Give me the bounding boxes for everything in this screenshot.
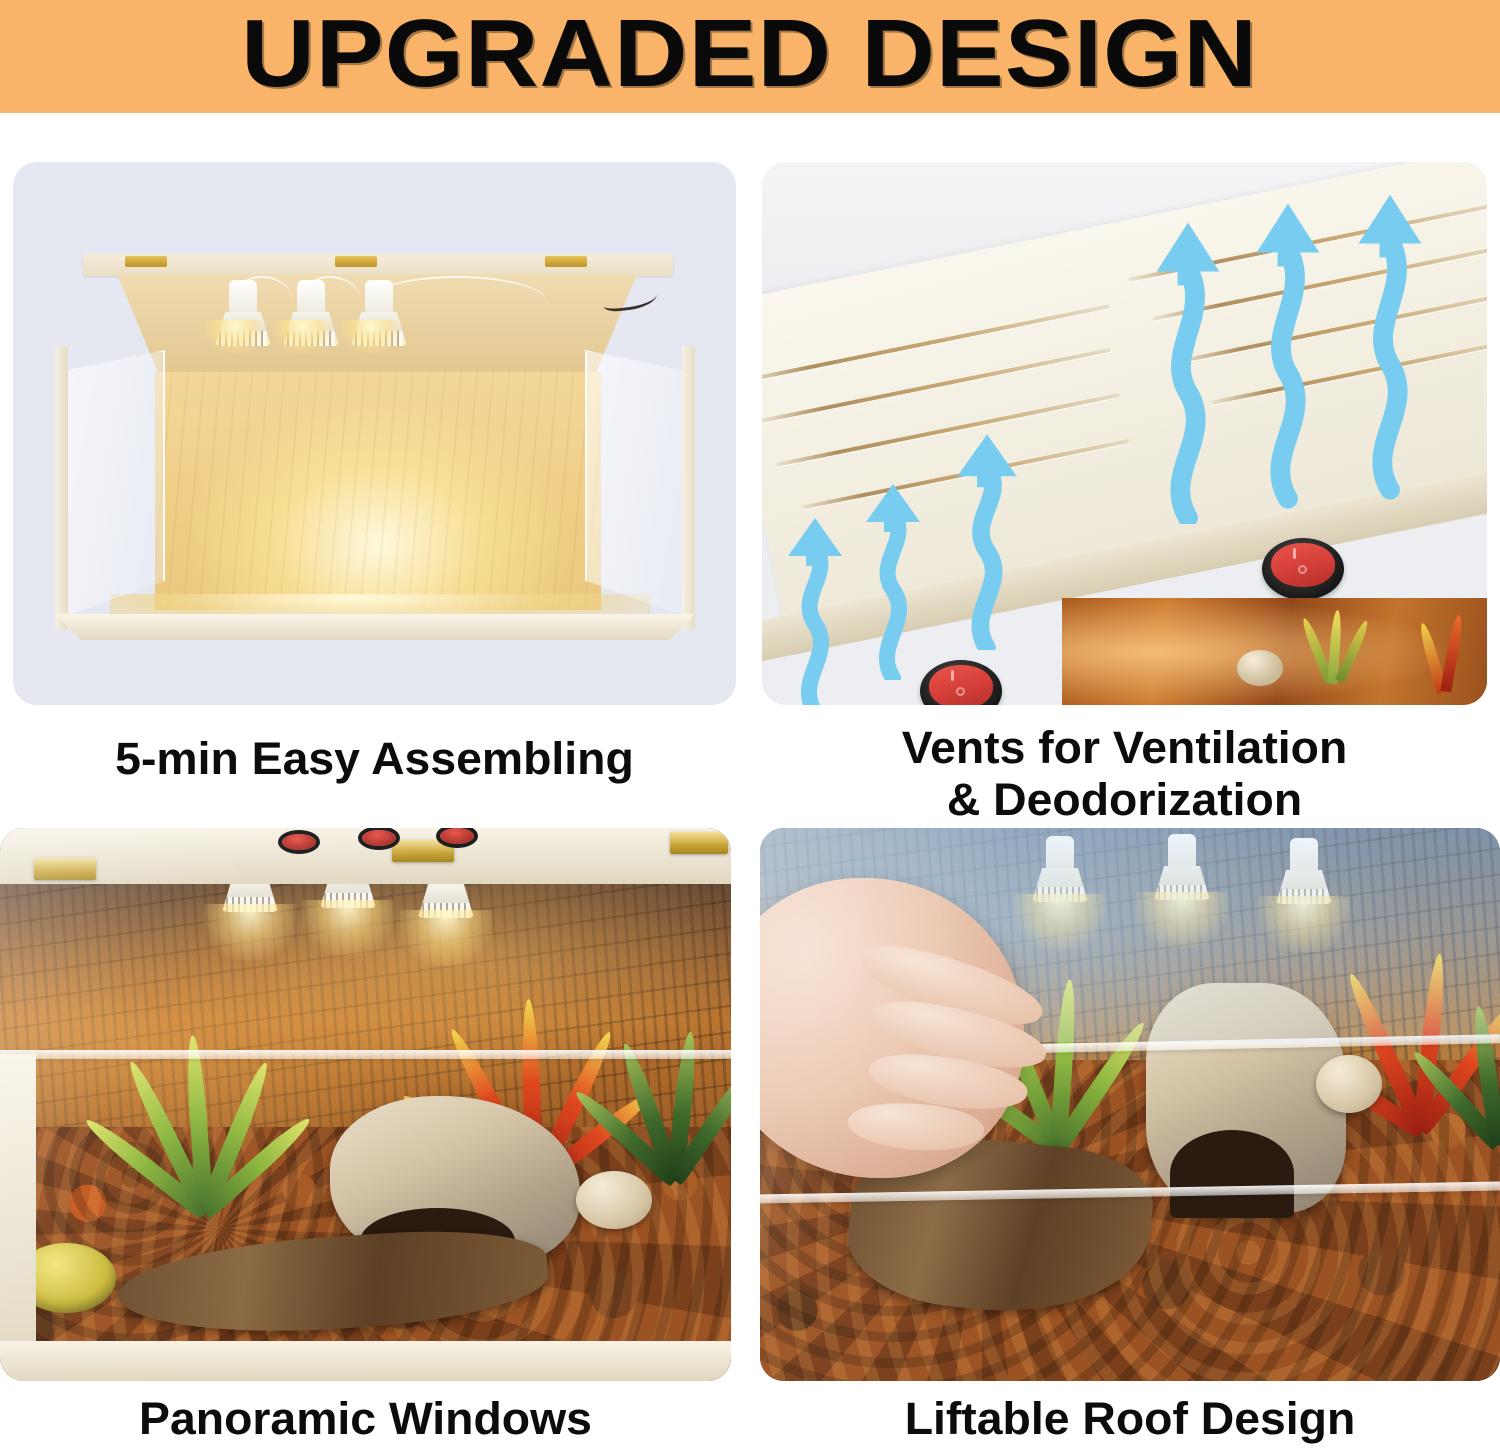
caption-line-2: & Deodorization <box>751 774 1498 826</box>
heat-lamp <box>351 280 407 342</box>
caption-panoramic-windows: Panoramic Windows <box>0 1393 742 1445</box>
lamp-glow <box>205 320 265 354</box>
lamp-glow <box>341 320 401 354</box>
lamp-beam <box>204 904 296 960</box>
glass-panel-left <box>61 350 165 618</box>
power-switch[interactable] <box>282 834 316 850</box>
glass-seam <box>0 1050 731 1059</box>
terrarium-box <box>55 254 695 634</box>
heat-lamp <box>215 280 271 342</box>
power-switch[interactable] <box>920 660 1002 705</box>
switch-circle-marking <box>956 687 965 696</box>
lamp-beam <box>302 900 394 956</box>
hinge-icon <box>545 256 587 267</box>
vent-slot <box>762 348 1110 423</box>
power-cord <box>602 285 658 313</box>
heat-lamp <box>283 280 339 342</box>
base-rail <box>55 614 695 640</box>
caption-line-1: Vents for Ventilation <box>751 722 1498 774</box>
airflow-arrow-icon <box>1354 176 1426 506</box>
page-title: UPGRADED DESIGN <box>242 6 1259 108</box>
lamp-beam <box>400 910 492 966</box>
airflow-arrow-icon <box>1252 190 1324 510</box>
feature-panel-ventilation <box>762 162 1487 705</box>
power-switch[interactable] <box>440 828 474 844</box>
switch-cap <box>929 665 993 705</box>
wood-frame-left <box>55 346 68 630</box>
header-banner: UPGRADED DESIGN <box>0 0 1500 113</box>
hinge-icon <box>392 840 454 862</box>
glass-panel-right <box>585 350 689 618</box>
caption-ventilation: Vents for Ventilation & Deodorization <box>751 722 1498 826</box>
caption-liftable-roof: Liftable Roof Design <box>749 1393 1500 1445</box>
airflow-arrow-icon <box>862 480 924 680</box>
egg-decor <box>1237 650 1283 686</box>
hinge-icon <box>335 256 377 267</box>
wood-frame-left <box>0 1054 36 1381</box>
airflow-arrow-icon <box>784 514 846 705</box>
lamp-glow <box>273 320 333 354</box>
switch-line-marking <box>951 670 954 681</box>
switch-line-marking <box>1293 548 1296 559</box>
power-switch[interactable] <box>1262 538 1344 600</box>
hinge-icon <box>34 858 96 880</box>
terrarium-empty-illustration <box>13 162 736 705</box>
power-switch[interactable] <box>362 830 396 846</box>
switch-circle-marking <box>1298 565 1307 574</box>
vent-slot <box>762 304 1109 382</box>
feature-panel-liftable-roof <box>760 828 1500 1381</box>
base-rail <box>0 1341 731 1381</box>
airflow-arrow-icon <box>1152 214 1224 524</box>
plant-green <box>140 1033 270 1213</box>
egg-decor <box>576 1171 652 1229</box>
hinge-icon <box>670 832 728 854</box>
egg-decor <box>1316 1055 1382 1113</box>
caption-assembling: 5-min Easy Assembling <box>2 733 747 785</box>
wood-frame-right <box>682 346 695 630</box>
hinge-icon <box>125 256 167 267</box>
back-wood-panel <box>155 372 601 610</box>
airflow-arrow-icon <box>952 430 1022 650</box>
feature-panel-panoramic-windows <box>0 828 731 1381</box>
terrarium-interior-peek <box>1062 598 1487 705</box>
feature-panel-assembling <box>13 162 736 705</box>
